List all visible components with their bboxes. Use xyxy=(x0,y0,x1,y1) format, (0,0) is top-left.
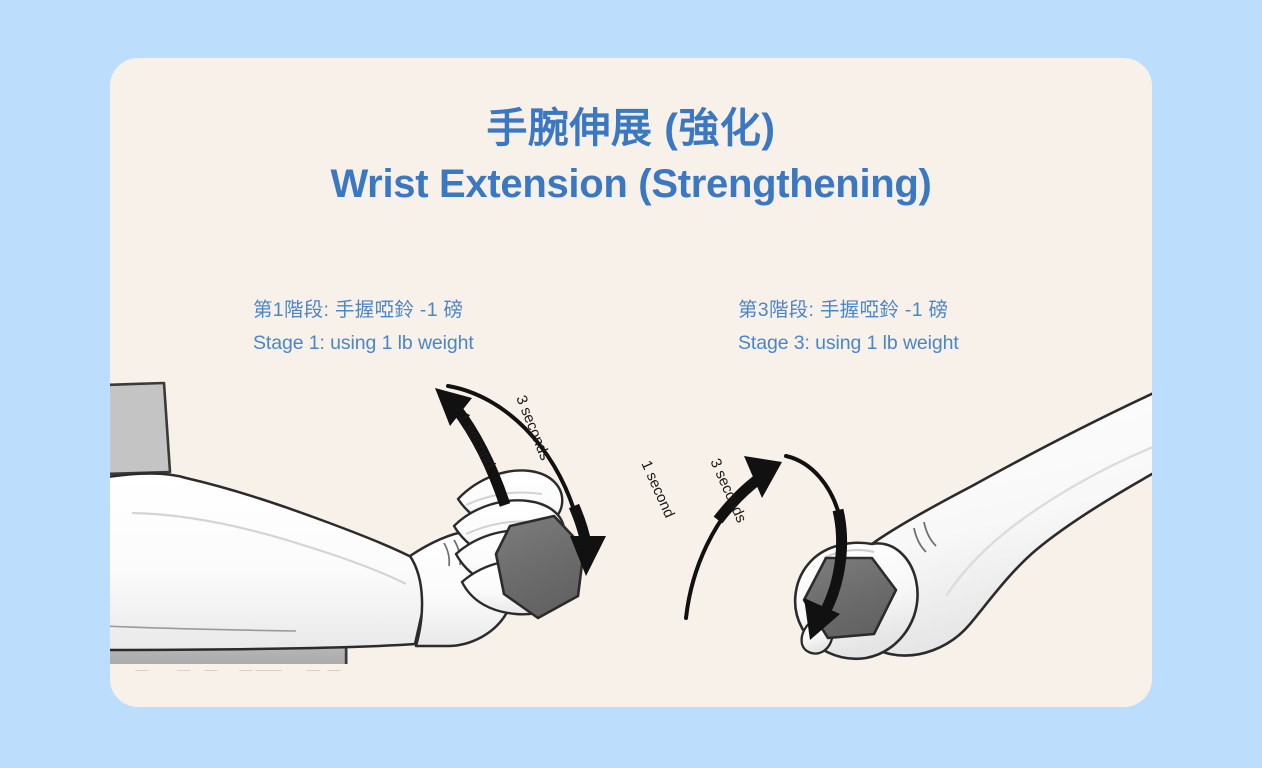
finger-3 xyxy=(456,530,564,589)
knuckle-shading-2 xyxy=(466,521,542,534)
title-block: 手腕伸展 (強化) Wrist Extension (Strengthening… xyxy=(110,102,1152,210)
exercise-card: 手腕伸展 (強化) Wrist Extension (Strengthening… xyxy=(110,58,1152,707)
illustration-stage-3 xyxy=(686,378,1152,659)
thumb xyxy=(540,548,581,588)
stage-label-3-en: Stage 3: using 1 lb weight xyxy=(738,327,959,360)
stage-label-1: 第1階段: 手握啞鈴 -1 磅 Stage 1: using 1 lb weig… xyxy=(253,294,474,360)
forearm-right xyxy=(844,378,1152,656)
clipped-caption: — — — — —— — — xyxy=(128,662,548,674)
wrist-crease-2 xyxy=(454,540,460,565)
stage-label-1-zh: 第1階段: 手握啞鈴 -1 磅 xyxy=(253,294,474,327)
forearm xyxy=(110,474,430,651)
elbow-crease xyxy=(110,626,296,631)
knuckle-right xyxy=(824,550,874,558)
arrow-label-1-second-right: 1 second xyxy=(637,458,677,521)
wrist-crease-right-1 xyxy=(914,528,926,552)
forearm-contour-upper xyxy=(132,513,406,584)
thumb-right xyxy=(802,618,833,654)
stage-label-1-en: Stage 1: using 1 lb weight xyxy=(253,327,474,360)
finger-1 xyxy=(458,470,562,531)
page-title-zh: 手腕伸展 (強化) xyxy=(110,102,1152,154)
hex-dumbbell xyxy=(496,516,584,618)
finger-2 xyxy=(454,500,564,561)
stage-label-3: 第3階段: 手握啞鈴 -1 磅 Stage 3: using 1 lb weig… xyxy=(738,294,959,360)
hex-dumbbell-right xyxy=(804,558,896,638)
table-body xyxy=(110,646,348,663)
page-title-en: Wrist Extension (Strengthening) xyxy=(110,158,1152,210)
knuckle-shading-1 xyxy=(466,492,542,505)
arrow-up-1-second-right xyxy=(686,456,782,618)
wrist-crease-1 xyxy=(444,543,449,566)
stage-label-3-zh: 第3階段: 手握啞鈴 -1 磅 xyxy=(738,294,959,327)
arrow-label-1-second-left: 1 second xyxy=(455,410,499,472)
wrist xyxy=(410,530,518,646)
table xyxy=(110,649,348,663)
arrow-down-3-seconds-right xyxy=(786,456,842,640)
arrow-label-3-seconds-right: 3 seconds xyxy=(706,456,749,525)
wrist-crease-right-2 xyxy=(924,522,936,546)
page-root: 手腕伸展 (強化) Wrist Extension (Strengthening… xyxy=(0,0,1262,768)
fist-right xyxy=(795,543,917,659)
finger-4 xyxy=(462,560,560,614)
upper-arm-block xyxy=(110,383,170,474)
forearm-right-shading xyxy=(946,446,1152,596)
illustration-canvas xyxy=(110,58,1152,707)
arrow-label-3-seconds-left: 3 seconds xyxy=(512,393,553,463)
